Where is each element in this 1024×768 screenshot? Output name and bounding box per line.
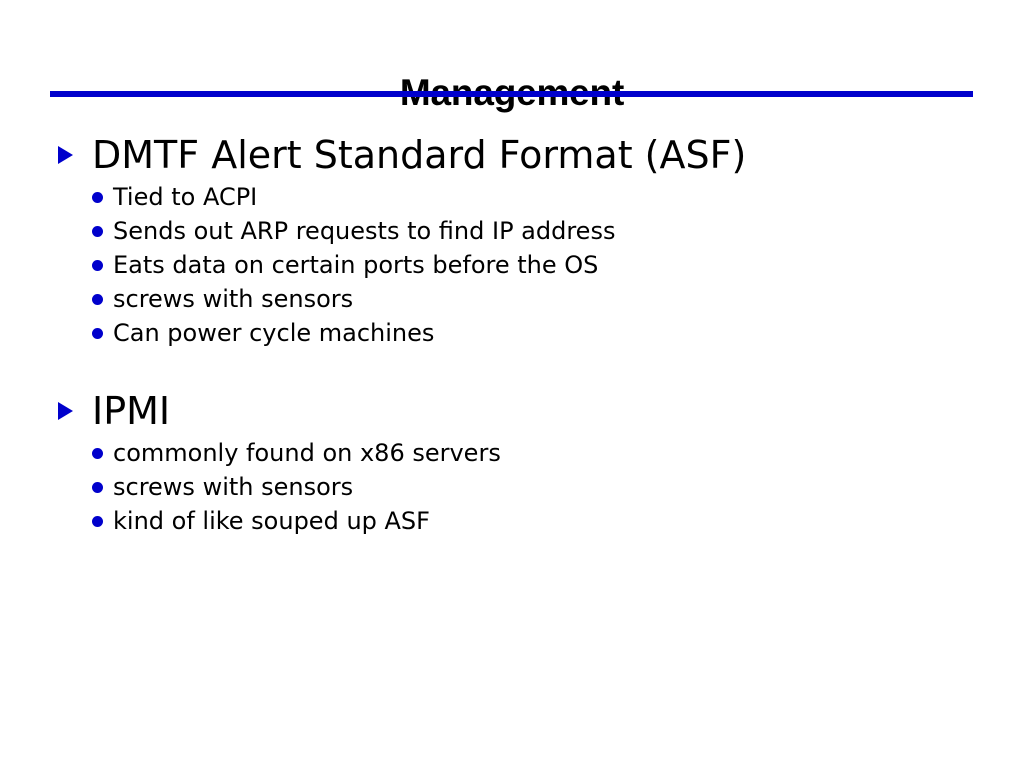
round-bullet-icon [92, 226, 103, 237]
triangle-bullet-icon [58, 402, 73, 420]
bullet-level2-label: Tied to ACPI [113, 180, 1024, 214]
bullet-level2-item: kind of like souped up ASF [0, 504, 1024, 538]
bullet-level2-item: screws with sensors [0, 282, 1024, 316]
round-bullet-icon [92, 260, 103, 271]
bullet-level2-item: Eats data on certain ports before the OS [0, 248, 1024, 282]
bullet-level2-label: Sends out ARP requests to find IP addres… [113, 214, 1024, 248]
round-bullet-icon [92, 482, 103, 493]
bullet-level2-list: commonly found on x86 servers screws wit… [0, 436, 1024, 538]
bullet-level1-item: IPMI [0, 388, 1024, 436]
bullet-level2-label: screws with sensors [113, 282, 1024, 316]
bullet-level1-label: IPMI [92, 388, 1024, 434]
triangle-bullet-icon [58, 146, 73, 164]
slide-body: DMTF Alert Standard Format (ASF) Tied to… [0, 132, 1024, 538]
bullet-level2-item: Can power cycle machines [0, 316, 1024, 350]
round-bullet-icon [92, 448, 103, 459]
presentation-slide: Management DMTF Alert Standard Format (A… [0, 0, 1024, 768]
round-bullet-icon [92, 192, 103, 203]
bullet-level2-list: Tied to ACPI Sends out ARP requests to f… [0, 180, 1024, 350]
outline-group: DMTF Alert Standard Format (ASF) Tied to… [0, 132, 1024, 350]
bullet-level2-label: kind of like souped up ASF [113, 504, 1024, 538]
bullet-level2-item: Sends out ARP requests to find IP addres… [0, 214, 1024, 248]
bullet-level2-label: Eats data on certain ports before the OS [113, 248, 1024, 282]
bullet-level2-label: Can power cycle machines [113, 316, 1024, 350]
bullet-level1-label: DMTF Alert Standard Format (ASF) [92, 132, 1024, 178]
bullet-level1-item: DMTF Alert Standard Format (ASF) [0, 132, 1024, 180]
bullet-level2-item: commonly found on x86 servers [0, 436, 1024, 470]
bullet-level2-label: commonly found on x86 servers [113, 436, 1024, 470]
round-bullet-icon [92, 328, 103, 339]
bullet-level2-item: screws with sensors [0, 470, 1024, 504]
outline-group: IPMI commonly found on x86 servers screw… [0, 388, 1024, 538]
round-bullet-icon [92, 516, 103, 527]
title-divider [50, 91, 973, 97]
round-bullet-icon [92, 294, 103, 305]
bullet-level2-item: Tied to ACPI [0, 180, 1024, 214]
bullet-level2-label: screws with sensors [113, 470, 1024, 504]
